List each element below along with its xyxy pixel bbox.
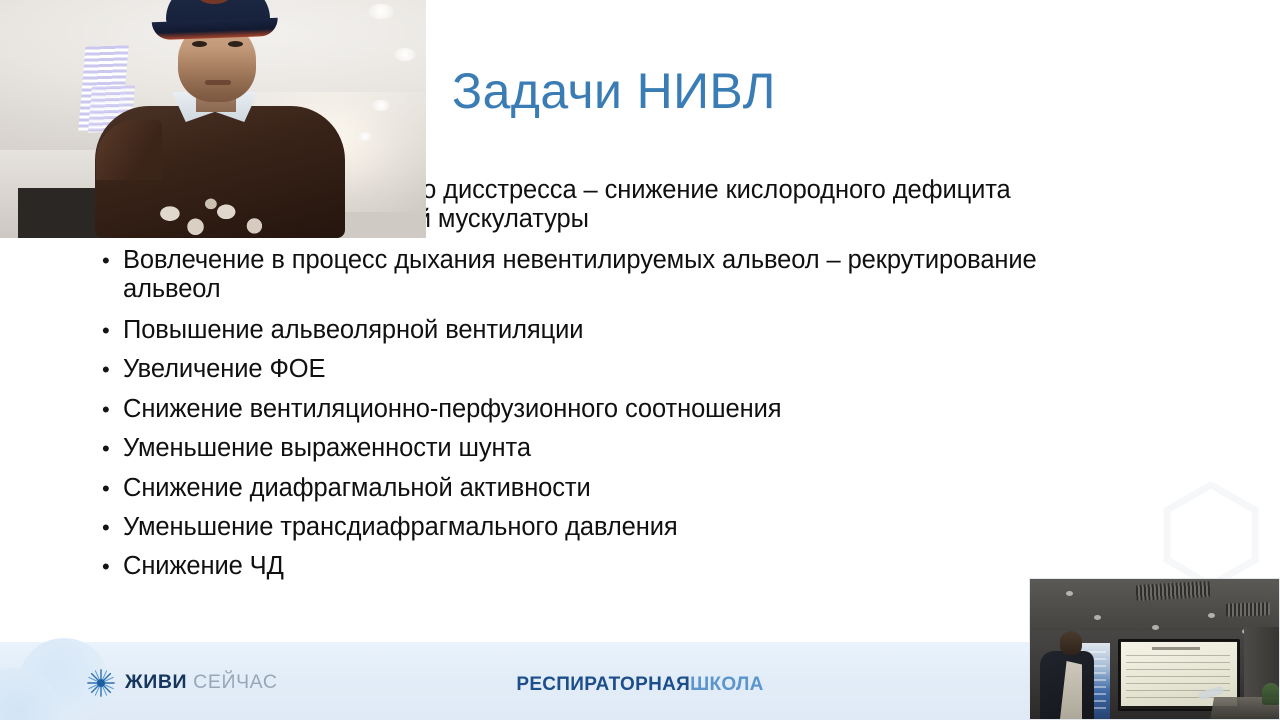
bullet-list: • Снижение респираторного дисстресса – с… <box>96 176 1211 592</box>
footer-title-secondary: ШКОЛА <box>690 674 764 695</box>
bullet-marker: • <box>96 355 123 384</box>
list-item-line: альвеол <box>123 275 1211 304</box>
webcam-ceiling-light <box>1094 615 1101 620</box>
webcam-ceiling-vent <box>1226 602 1270 617</box>
webcam-ceiling-light <box>358 132 372 141</box>
webcam-person-mouth <box>205 80 231 85</box>
bullet-marker: • <box>96 474 123 503</box>
list-item-label: Повышение альвеолярной вентиляции <box>123 316 1211 345</box>
webcam-ceiling-light <box>368 4 394 19</box>
webcam-ceiling-light <box>1066 591 1073 596</box>
webcam-ceiling-light <box>1208 613 1215 618</box>
list-item-line: Вовлечение в процесс дыхания невентилиру… <box>123 246 1211 275</box>
webcam-overlay-presenter-secondary[interactable] <box>1029 578 1280 720</box>
webcam-person-eye <box>228 41 243 47</box>
list-item: • Повышение альвеолярной вентиляции <box>96 316 1211 345</box>
list-item-label: Уменьшение трансдиафрагмального давления <box>123 513 1211 542</box>
webcam-room-plant <box>1262 683 1280 705</box>
webcam-ceiling-light <box>394 48 416 61</box>
list-item-label: Уменьшение выраженности шунта <box>123 434 1211 463</box>
list-item-label: Снижение диафрагмальной активности <box>123 474 1211 503</box>
webcam-sweater-pattern <box>152 196 280 238</box>
webcam-projected-slide-title <box>1152 647 1200 650</box>
webcam-ceiling-light <box>372 100 390 111</box>
list-item-label: Увеличение ФОЕ <box>123 355 1211 384</box>
presentation-slide: Задачи НИВЛ • Снижение респираторного ди… <box>0 0 1280 720</box>
webcam-ceiling-light <box>1152 625 1159 630</box>
webcam-overlay-presenter-main[interactable] <box>0 0 426 238</box>
list-item-label: Вовлечение в процесс дыхания невентилиру… <box>123 246 1211 305</box>
list-item: • Увеличение ФОЕ <box>96 355 1211 384</box>
webcam-person-eye <box>192 41 207 47</box>
page-title: Задачи НИВЛ <box>452 62 776 120</box>
webcam-face-shadow <box>178 46 256 102</box>
webcam-person-head <box>1060 631 1082 655</box>
list-item: • Снижение вентиляционно-перфузионного с… <box>96 395 1211 424</box>
list-item: • Вовлечение в процесс дыхания невентили… <box>96 246 1211 305</box>
list-item: • Уменьшение выраженности шунта <box>96 434 1211 463</box>
bullet-marker: • <box>96 395 123 424</box>
webcam-room-doorway <box>18 188 104 238</box>
bullet-marker: • <box>96 552 123 581</box>
list-item-label: Снижение вентиляционно-перфузионного соо… <box>123 395 1211 424</box>
bullet-marker: • <box>96 246 123 275</box>
footer-title-primary: РЕСПИРАТОРНАЯ <box>516 674 690 695</box>
list-item: • Уменьшение трансдиафрагмального давлен… <box>96 513 1211 542</box>
bullet-marker: • <box>96 513 123 542</box>
bullet-marker: • <box>96 316 123 345</box>
bullet-marker: • <box>96 434 123 463</box>
list-item: • Снижение диафрагмальной активности <box>96 474 1211 503</box>
